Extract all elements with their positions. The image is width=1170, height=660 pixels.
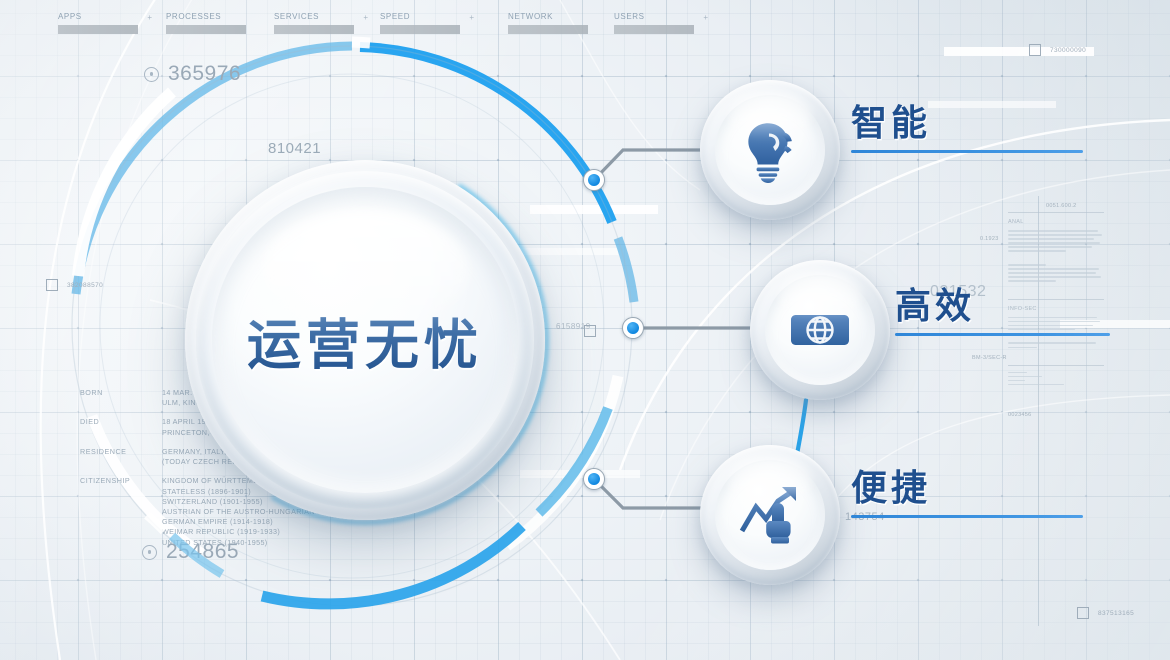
feature-1-underline xyxy=(851,150,1083,153)
bio-key: DIED xyxy=(80,417,162,437)
feature-2-gloss xyxy=(778,273,862,321)
checkbox-icon xyxy=(46,279,58,291)
nav-bar-apps xyxy=(58,25,138,34)
doc-text-line xyxy=(1008,372,1027,374)
marker-text-bottom-right: 837513165 xyxy=(1098,610,1134,617)
connector-node-3[interactable] xyxy=(583,468,605,490)
feature-circle-efficient[interactable] xyxy=(750,260,890,400)
doc-gap xyxy=(1008,351,1104,358)
target-ring-icon xyxy=(142,545,157,560)
doc-text-line xyxy=(1008,264,1046,266)
doc-text-line xyxy=(1008,272,1096,274)
nav-item-users[interactable]: USERS + xyxy=(614,0,698,40)
doc-text-line xyxy=(1008,242,1100,244)
nav-bar-users xyxy=(614,25,694,34)
feature-1-text: 智能 xyxy=(851,105,1083,141)
feature-circle-convenient[interactable] xyxy=(700,445,840,585)
nav-item-network[interactable]: NETWORK xyxy=(508,0,592,40)
nav-label-network: NETWORK xyxy=(508,12,592,21)
nav-tick-users: + xyxy=(703,13,708,22)
feature-2-underline xyxy=(895,333,1110,336)
nav-label-speed: SPEED xyxy=(380,12,464,21)
hero-title: 运营无忧 xyxy=(185,301,545,380)
nav-label-users: USERS xyxy=(614,12,698,21)
doc-text-line xyxy=(1008,347,1037,349)
marker-checkbox-bottom-right[interactable]: 837513165 xyxy=(1077,607,1134,619)
feature-3-gloss xyxy=(728,458,812,506)
doc-text-line xyxy=(1008,376,1042,378)
bio-key: BORN xyxy=(80,388,162,408)
metric-value-365976: 365976 xyxy=(168,62,241,86)
nav-label-apps: APPS xyxy=(58,12,142,21)
doc-note-c: 0023456 xyxy=(1008,412,1032,418)
bio-key: RESIDENCE xyxy=(80,447,162,467)
nav-label-processes: PROCESSES xyxy=(166,12,250,21)
nav-bar-services xyxy=(274,25,354,34)
nav-item-speed[interactable]: SPEED + xyxy=(380,0,464,40)
doc-text-line xyxy=(1008,276,1101,278)
doc-text-line xyxy=(1008,246,1092,248)
bio-key: CITIZENSHIP xyxy=(80,476,162,548)
doc-separator xyxy=(1008,365,1104,366)
checkbox-icon xyxy=(1029,44,1041,56)
doc-text-line xyxy=(1008,384,1064,386)
feature-circle-intelligent[interactable] xyxy=(700,80,840,220)
doc-text-line xyxy=(1008,380,1025,382)
nav-tick-speed: + xyxy=(469,13,474,22)
nav-bar-processes xyxy=(166,25,246,34)
feature-2-text: 高效 xyxy=(895,288,1110,324)
checkbox-icon xyxy=(1077,607,1089,619)
nav-item-processes[interactable]: PROCESSES xyxy=(166,0,250,40)
nav-bar-speed xyxy=(380,25,460,34)
marker-checkbox-top-right[interactable]: 730000090 xyxy=(1029,44,1086,56)
doc-text-line xyxy=(1008,230,1098,232)
feature-3-underline xyxy=(851,515,1083,518)
target-ring-icon xyxy=(144,67,159,82)
nav-bar-network xyxy=(508,25,588,34)
feature-label-intelligent: 智能 xyxy=(851,105,1083,153)
doc-text-line xyxy=(1008,250,1066,252)
bio-value: WEIMAR REPUBLIC (1919-1933) xyxy=(162,527,392,537)
metric-badge-254865: 254865 xyxy=(142,540,239,564)
marker-checkbox-center[interactable] xyxy=(584,325,596,337)
doc-note-b: BM-3/SEC-R xyxy=(972,355,1007,361)
doc-text-line xyxy=(1008,268,1099,270)
nav-label-services: SERVICES xyxy=(274,12,358,21)
marker-text-mid-left: 382088570 xyxy=(67,282,103,289)
nav-tick-apps: + xyxy=(147,13,152,22)
metric-value-810421: 810421 xyxy=(268,140,321,157)
doc-text-line xyxy=(1008,280,1056,282)
top-navigation-bar: APPS + PROCESSES SERVICES + SPEED + NETW… xyxy=(0,0,1170,40)
connector-node-1[interactable] xyxy=(583,169,605,191)
doc-text-line xyxy=(1008,238,1094,240)
marker-text-top-right: 730000090 xyxy=(1050,47,1086,54)
doc-text-line xyxy=(1008,234,1102,236)
nav-item-services[interactable]: SERVICES + xyxy=(274,0,358,40)
nav-item-apps[interactable]: APPS + xyxy=(58,0,142,40)
marker-checkbox-mid-left[interactable]: 382088570 xyxy=(46,279,103,291)
feature-3-text: 便捷 xyxy=(851,470,1083,506)
infographic-stage: 运营无忧 xyxy=(0,0,1170,660)
metric-badge-365976: 365976 xyxy=(144,62,241,86)
doc-separator xyxy=(1008,212,1104,213)
nav-tick-services: + xyxy=(363,13,368,22)
checkbox-icon xyxy=(584,325,596,337)
doc-gap xyxy=(1008,255,1104,262)
feature-label-efficient: 高效 xyxy=(895,288,1110,336)
doc-note-d: 0051.600.2 xyxy=(1046,203,1077,209)
connector-node-2[interactable] xyxy=(622,317,644,339)
hero-circle: 运营无忧 xyxy=(185,160,545,520)
doc-text-line xyxy=(1008,342,1096,344)
metric-value-254865: 254865 xyxy=(166,540,239,564)
feature-label-convenient: 便捷 xyxy=(851,470,1083,518)
feature-1-gloss xyxy=(728,93,812,141)
doc-note-a: 0.1923 xyxy=(980,236,999,242)
doc-title-1: ANAL xyxy=(1008,219,1104,225)
